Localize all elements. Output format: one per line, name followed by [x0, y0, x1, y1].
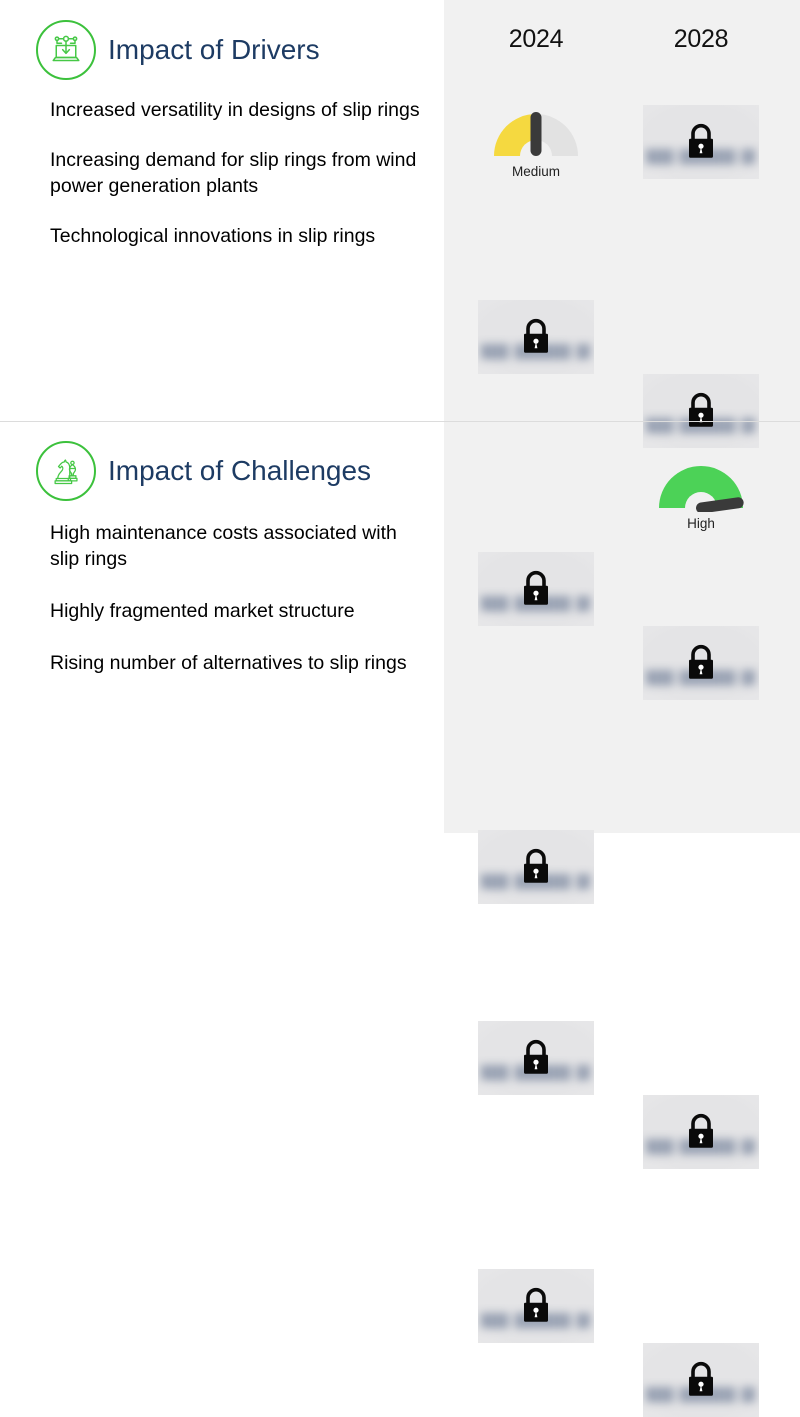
section-header-challenges: Impact of Challenges: [0, 422, 444, 502]
locked-cell-drivers-row3-2024[interactable]: ▆▆ ▆▆▆▆ ▆: [478, 552, 594, 626]
gauge-dial-high: [655, 460, 747, 512]
infographic-page: 2024 2028 Impact of Drivers: [0, 0, 800, 833]
locked-cell-drivers-row3-2028[interactable]: ▆▆ ▆▆▆▆ ▆: [643, 626, 759, 700]
lock-icon: [519, 846, 553, 886]
lock-icon: [684, 390, 718, 430]
lock-icon: [684, 121, 718, 161]
lock-icon: [519, 1285, 553, 1325]
locked-cell-challenges-row1-2024[interactable]: ▆▆ ▆▆▆▆ ▆: [478, 830, 594, 904]
column-header-2028: 2028: [643, 25, 759, 54]
lock-icon: [519, 1037, 553, 1077]
locked-cell-drivers-row2-2028[interactable]: ▆▆ ▆▆▆▆ ▆: [643, 374, 759, 448]
laptop-download-icon: [36, 20, 96, 80]
lock-icon: [519, 568, 553, 608]
locked-cell-drivers-row1-2028[interactable]: ▆▆ ▆▆▆▆ ▆: [643, 105, 759, 179]
locked-cell-drivers-row2-2024[interactable]: ▆▆ ▆▆▆▆ ▆: [478, 300, 594, 374]
list-item: Technological innovations in slip rings: [50, 223, 428, 249]
section-header-drivers: Impact of Drivers: [0, 0, 444, 80]
column-header-2024: 2024: [478, 25, 594, 54]
list-item: High maintenance costs associated with s…: [50, 520, 428, 572]
gauge-label-medium: Medium: [512, 164, 560, 179]
challenges-bullet-list: High maintenance costs associated with s…: [0, 520, 444, 676]
gauge-dial-medium: [490, 108, 582, 160]
list-item: Increasing demand for slip rings from wi…: [50, 147, 428, 199]
section-drivers: Impact of Drivers Increased versatility …: [0, 0, 444, 249]
lock-icon: [684, 1359, 718, 1399]
gauge-challenges-row1-2028: High: [643, 460, 759, 548]
lock-icon: [684, 642, 718, 682]
section-challenges: Impact of Challenges High maintenance co…: [0, 422, 444, 676]
chess-pieces-icon: [36, 441, 96, 501]
locked-cell-challenges-row3-2024[interactable]: ▆▆ ▆▆▆▆ ▆: [478, 1269, 594, 1343]
list-item: Highly fragmented market structure: [50, 598, 428, 624]
lock-icon: [519, 316, 553, 356]
gauge-drivers-row1-2024: Medium: [478, 108, 594, 196]
locked-cell-challenges-row2-2024[interactable]: ▆▆ ▆▆▆▆ ▆: [478, 1021, 594, 1095]
section-title-challenges: Impact of Challenges: [108, 455, 371, 487]
lock-icon: [684, 1111, 718, 1151]
section-title-drivers: Impact of Drivers: [108, 34, 320, 66]
locked-cell-challenges-row2-2028[interactable]: ▆▆ ▆▆▆▆ ▆: [643, 1095, 759, 1169]
list-item: Increased versatility in designs of slip…: [50, 97, 428, 123]
drivers-bullet-list: Increased versatility in designs of slip…: [0, 97, 444, 249]
gauge-label-high: High: [687, 516, 715, 531]
list-item: Rising number of alternatives to slip ri…: [50, 650, 428, 676]
locked-cell-challenges-row3-2028[interactable]: ▆▆ ▆▆▆▆ ▆: [643, 1343, 759, 1417]
